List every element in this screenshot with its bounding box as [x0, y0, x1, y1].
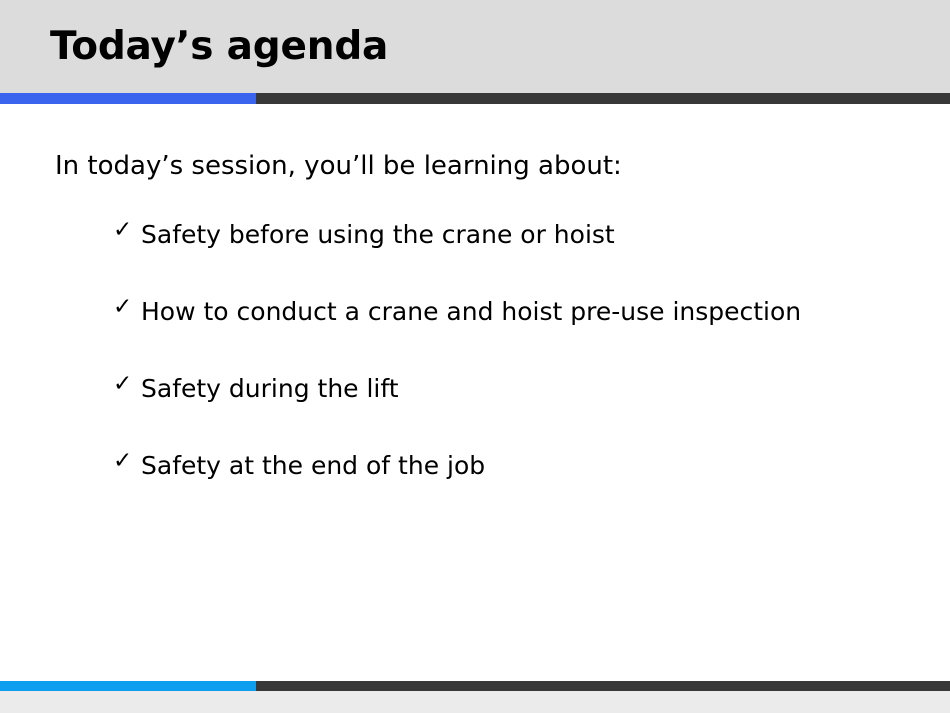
list-item: ✓ Safety before using the crane or hoist	[113, 216, 843, 254]
list-item-label: Safety at the end of the job	[141, 447, 843, 485]
header-divider-bar	[0, 93, 950, 104]
list-item-label: Safety during the lift	[141, 370, 843, 408]
header-accent-segment	[0, 93, 256, 104]
header-dark-segment	[256, 93, 950, 104]
page-title: Today’s agenda	[50, 25, 388, 70]
intro-text: In today’s session, you’ll be learning a…	[55, 150, 622, 183]
slide-body: In today’s session, you’ll be learning a…	[0, 104, 950, 681]
check-icon: ✓	[113, 213, 137, 248]
check-icon: ✓	[113, 444, 137, 479]
check-icon: ✓	[113, 290, 137, 325]
footer-divider-bar	[0, 681, 950, 691]
list-item: ✓ How to conduct a crane and hoist pre-u…	[113, 293, 843, 331]
footer-dark-segment	[256, 681, 950, 691]
check-icon: ✓	[113, 367, 137, 402]
slide: Today’s agenda In today’s session, you’l…	[0, 0, 950, 713]
list-item: ✓ Safety at the end of the job	[113, 447, 843, 485]
list-item-label: Safety before using the crane or hoist	[141, 216, 843, 254]
list-item: ✓ Safety during the lift	[113, 370, 843, 408]
agenda-list: ✓ Safety before using the crane or hoist…	[113, 216, 843, 485]
slide-footer	[0, 691, 950, 713]
slide-header: Today’s agenda	[0, 0, 950, 93]
footer-accent-segment	[0, 681, 256, 691]
list-item-label: How to conduct a crane and hoist pre-use…	[141, 293, 843, 331]
